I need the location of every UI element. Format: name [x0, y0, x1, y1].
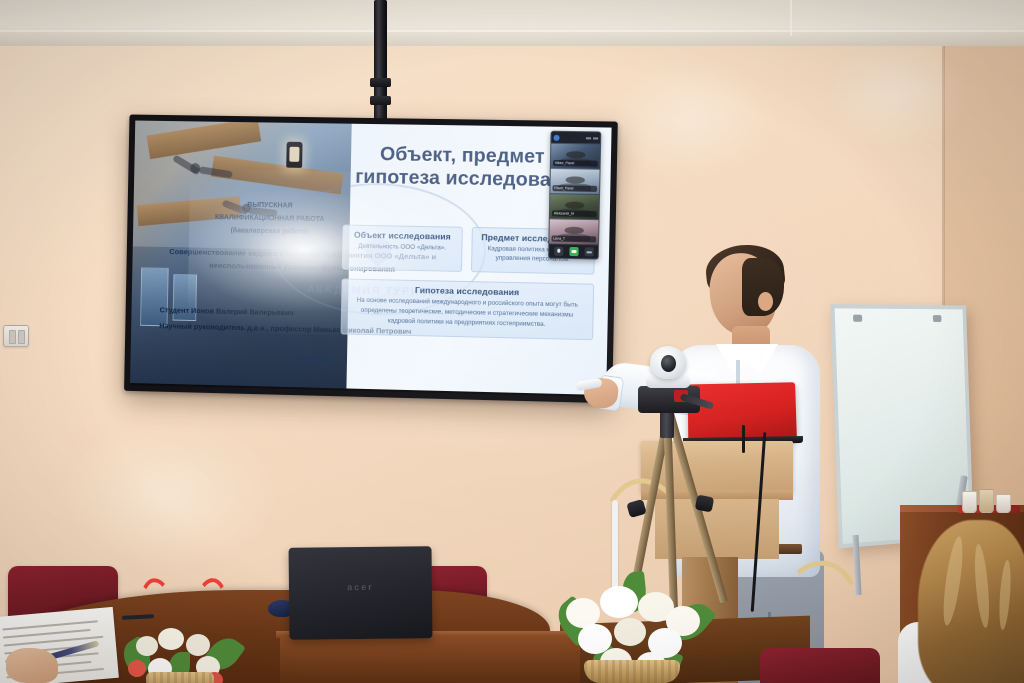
presenter-ear — [758, 292, 773, 311]
table-front-panel — [280, 636, 580, 683]
ceiling — [0, 0, 1024, 46]
tv-ceiling-mount — [374, 0, 387, 122]
hand — [6, 648, 58, 683]
webcam-lens-icon — [661, 355, 676, 372]
chair[interactable] — [760, 648, 880, 683]
laptop-cable — [742, 425, 745, 453]
tv-bezel — [124, 114, 618, 403]
light-switch[interactable] — [3, 325, 29, 347]
wall-mounted-tv: ВЫПУСКНАЯ КВАЛИФИКАЦИОННАЯ РАБОТА (бакал… — [124, 114, 618, 403]
photo-scene: ВЫПУСКНАЯ КВАЛИФИКАЦИОННАЯ РАБОТА (бакал… — [0, 0, 1024, 683]
blonde-woman-seated — [900, 510, 1024, 683]
black-laptop[interactable]: acer — [289, 546, 433, 639]
laptop-brand-logo: acer — [347, 582, 374, 592]
